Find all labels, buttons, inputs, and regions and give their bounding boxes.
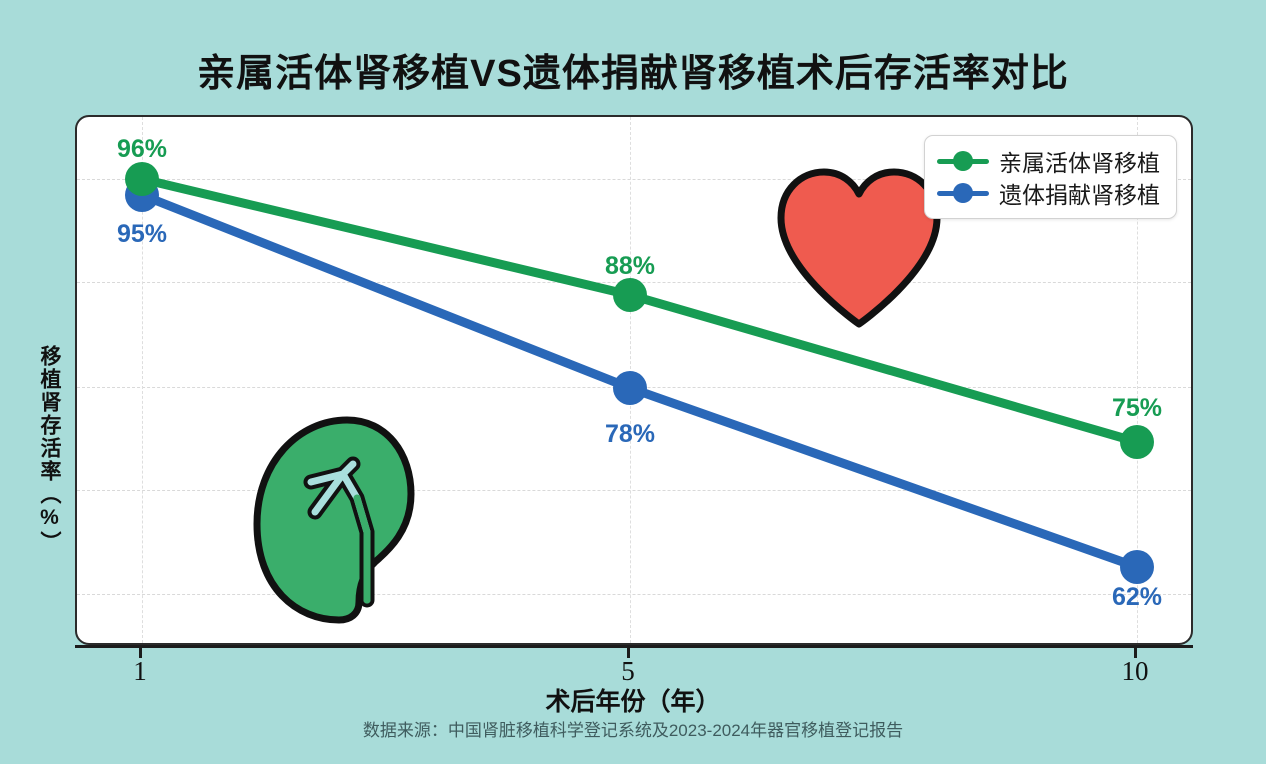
data-label-living-donor-year10: 75% xyxy=(1112,394,1162,423)
legend: 亲属活体肾移植 遗体捐献肾移植 xyxy=(924,135,1177,219)
data-point-living-donor xyxy=(1120,425,1154,459)
data-label-living-donor-year5: 88% xyxy=(605,252,655,281)
data-label-deceased-donor-year1: 95% xyxy=(117,220,167,249)
data-point-living-donor xyxy=(125,162,159,196)
y-axis-title: 移植肾存活率（%） xyxy=(26,345,60,554)
data-label-deceased-donor-year10: 62% xyxy=(1112,583,1162,612)
legend-swatch-green-icon xyxy=(937,149,989,173)
page-title: 亲属活体肾移植VS遗体捐献肾移植术后存活率对比 xyxy=(0,42,1266,97)
legend-label-deceased-donor: 遗体捐献肾移植 xyxy=(999,176,1160,210)
source-note: 数据来源：中国肾脏移植科学登记系统及2023-2024年器官移植登记报告 xyxy=(0,716,1266,741)
x-axis-title: 术后年份（年） xyxy=(0,682,1266,718)
x-axis-line xyxy=(75,645,1193,648)
data-label-deceased-donor-year5: 78% xyxy=(605,420,655,449)
legend-item-deceased-donor[interactable]: 遗体捐献肾移植 xyxy=(937,177,1160,209)
data-point-deceased-donor xyxy=(1120,550,1154,584)
legend-item-living-donor[interactable]: 亲属活体肾移植 xyxy=(937,145,1160,177)
plot-area: 96% 88% 75% 95% 78% 62% 亲属活体肾移植 遗体捐献肾移植 xyxy=(75,115,1193,645)
data-point-deceased-donor xyxy=(613,371,647,405)
legend-label-living-donor: 亲属活体肾移植 xyxy=(999,144,1160,178)
data-label-living-donor-year1: 96% xyxy=(117,135,167,164)
legend-swatch-blue-icon xyxy=(937,181,989,205)
data-point-living-donor xyxy=(613,278,647,312)
